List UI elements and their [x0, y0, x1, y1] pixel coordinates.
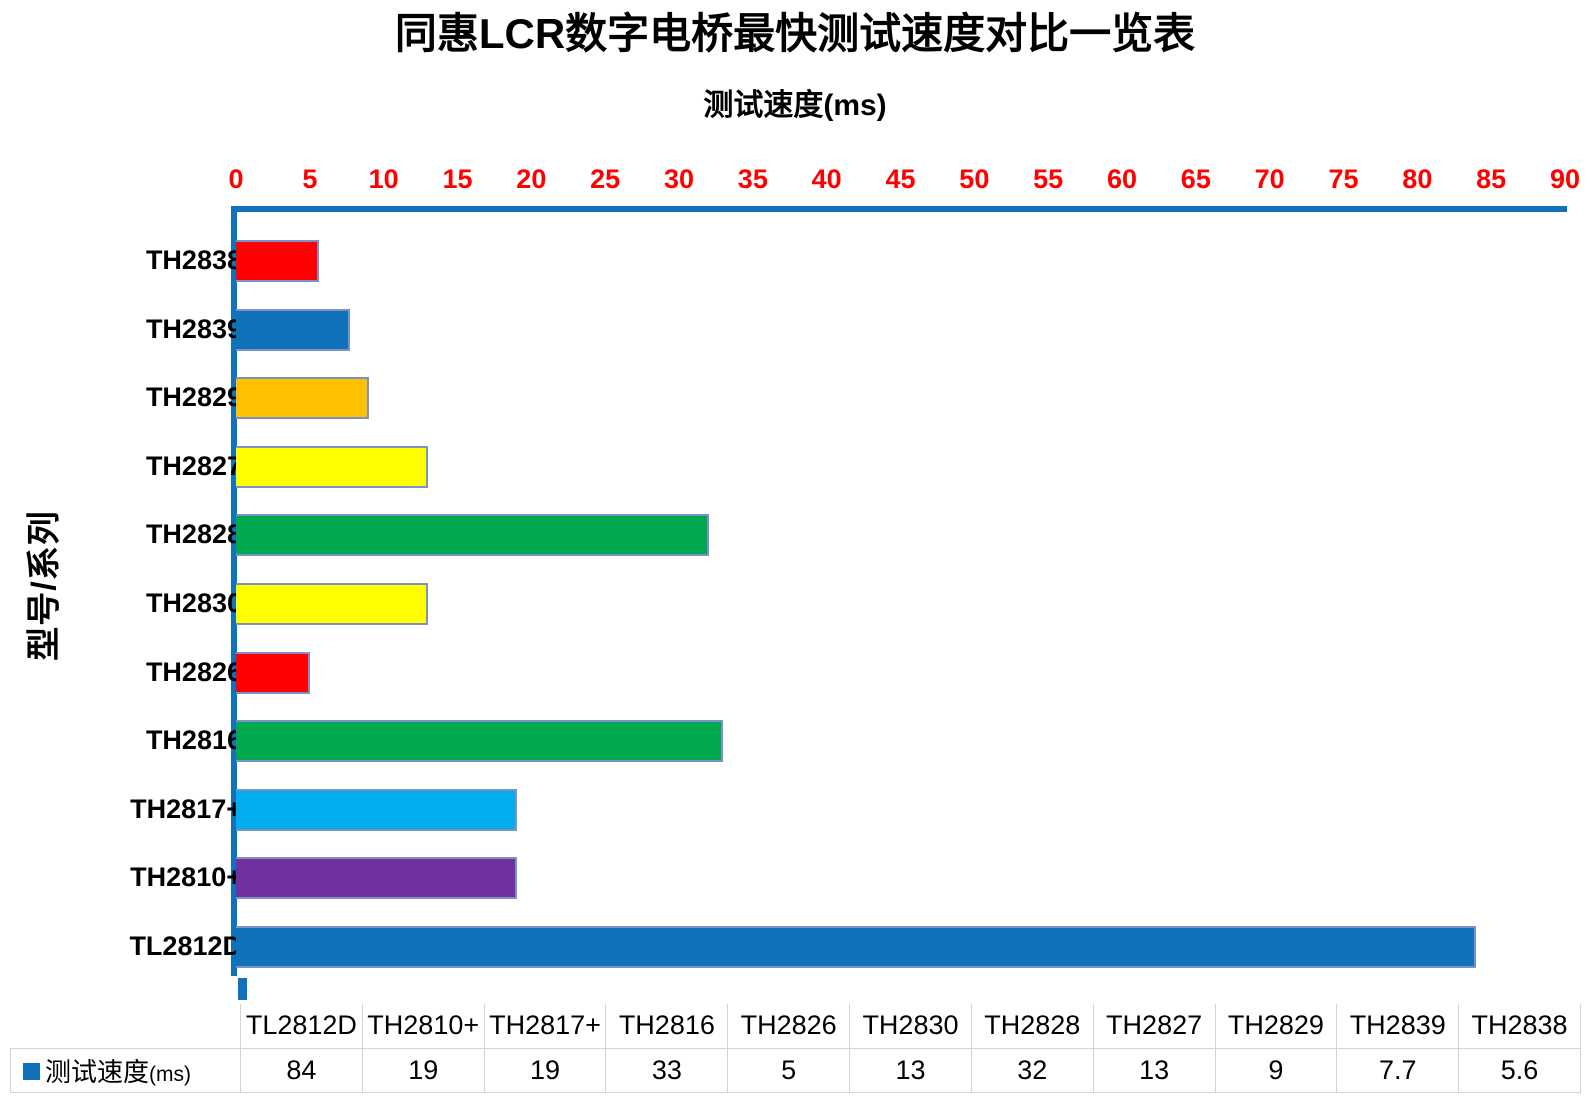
- table-value-row: 测试速度(ms) 84191933513321397.75.6: [11, 1048, 1581, 1092]
- x-axis-tick-35: 35: [723, 163, 783, 195]
- table-corner-cell: [11, 1004, 241, 1048]
- table-value-TH2817+: 19: [484, 1048, 606, 1092]
- table-value-TH2838: 5.6: [1459, 1048, 1581, 1092]
- y-axis-category-TH2816: TH2816: [0, 725, 242, 755]
- table-header-TH2816: TH2816: [606, 1004, 728, 1048]
- y-axis-category-TH2830: TH2830: [0, 588, 242, 618]
- x-axis-tick-20: 20: [501, 163, 561, 195]
- x-axis-tick-10: 10: [354, 163, 414, 195]
- x-axis-tick-85: 85: [1461, 163, 1521, 195]
- x-axis-tick-50: 50: [944, 163, 1004, 195]
- x-axis-tick-55: 55: [1018, 163, 1078, 195]
- y-axis-category-TH2839: TH2839: [0, 314, 242, 344]
- x-axis-tick-60: 60: [1092, 163, 1152, 195]
- table-header-TH2827: TH2827: [1093, 1004, 1215, 1048]
- table-header-TH2817+: TH2817+: [484, 1004, 606, 1048]
- table-header-TH2830: TH2830: [850, 1004, 972, 1048]
- table-header-TH2829: TH2829: [1215, 1004, 1337, 1048]
- table-row-label-text: 测试速度: [45, 1057, 149, 1087]
- chart-subtitle: 测试速度(ms): [0, 86, 1590, 126]
- table-value-TH2827: 13: [1093, 1048, 1215, 1092]
- table-value-TH2829: 9: [1215, 1048, 1337, 1092]
- table-value-TH2826: 5: [728, 1048, 850, 1092]
- bar-TH2830[interactable]: [236, 583, 428, 625]
- table-value-TL2812D: 84: [241, 1048, 363, 1092]
- y-axis-category-TL2812D: TL2812D: [0, 931, 242, 961]
- bar-TH2826[interactable]: [236, 652, 310, 694]
- x-axis-tick-15: 15: [428, 163, 488, 195]
- table-header-TH2839: TH2839: [1337, 1004, 1459, 1048]
- table-header-TH2826: TH2826: [728, 1004, 850, 1048]
- x-axis-tick-30: 30: [649, 163, 709, 195]
- bar-TH2829[interactable]: [236, 377, 369, 419]
- table-header-TH2810+: TH2810+: [362, 1004, 484, 1048]
- y-axis-category-TH2827: TH2827: [0, 451, 242, 481]
- x-axis-tick-40: 40: [797, 163, 857, 195]
- legend-tick-marker: [238, 978, 247, 1000]
- x-axis-tick-80: 80: [1387, 163, 1447, 195]
- y-axis-category-TH2828: TH2828: [0, 519, 242, 549]
- chart-title: 同惠LCR数字电桥最快测试速度对比一览表: [0, 8, 1590, 60]
- table-header-TL2812D: TL2812D: [241, 1004, 363, 1048]
- legend-swatch-icon: [23, 1063, 40, 1080]
- y-axis-category-TH2810+: TH2810+: [0, 862, 242, 892]
- bar-TH2838[interactable]: [236, 240, 319, 282]
- y-axis-category-TH2829: TH2829: [0, 382, 242, 412]
- table-value-TH2839: 7.7: [1337, 1048, 1459, 1092]
- table-header-TH2838: TH2838: [1459, 1004, 1581, 1048]
- table-header-row: TL2812DTH2810+TH2817+TH2816TH2826TH2830T…: [11, 1004, 1581, 1048]
- table-header-TH2828: TH2828: [971, 1004, 1093, 1048]
- x-axis-tick-0: 0: [206, 163, 266, 195]
- table-value-TH2816: 33: [606, 1048, 728, 1092]
- table-value-TH2830: 13: [850, 1048, 972, 1092]
- x-axis-tick-5: 5: [280, 163, 340, 195]
- y-axis-category-TH2838: TH2838: [0, 245, 242, 275]
- x-axis-tick-25: 25: [575, 163, 635, 195]
- x-axis-tick-75: 75: [1314, 163, 1374, 195]
- bar-TH2816[interactable]: [236, 720, 723, 762]
- y-axis-category-TH2817+: TH2817+: [0, 794, 242, 824]
- y-axis-category-TH2826: TH2826: [0, 657, 242, 687]
- x-axis-tick-90: 90: [1535, 163, 1590, 195]
- table-value-TH2810+: 19: [362, 1048, 484, 1092]
- bar-TH2810+[interactable]: [236, 857, 517, 899]
- bar-TH2827[interactable]: [236, 446, 428, 488]
- data-table: TL2812DTH2810+TH2817+TH2816TH2826TH2830T…: [10, 1004, 1581, 1093]
- table-row-label: 测试速度(ms): [11, 1048, 241, 1092]
- bar-TL2812D[interactable]: [236, 926, 1476, 968]
- bar-TH2839[interactable]: [236, 309, 350, 351]
- bar-TH2817+[interactable]: [236, 789, 517, 831]
- table-row-label-unit: (ms): [149, 1063, 191, 1086]
- chart-container: 同惠LCR数字电桥最快测试速度对比一览表 测试速度(ms) 型号/系列 0510…: [0, 0, 1590, 1100]
- x-axis-tick-70: 70: [1240, 163, 1300, 195]
- table-value-TH2828: 32: [971, 1048, 1093, 1092]
- bar-TH2828[interactable]: [236, 514, 709, 556]
- x-axis-tick-45: 45: [871, 163, 931, 195]
- plot-area: [236, 211, 1565, 974]
- x-axis-tick-65: 65: [1166, 163, 1226, 195]
